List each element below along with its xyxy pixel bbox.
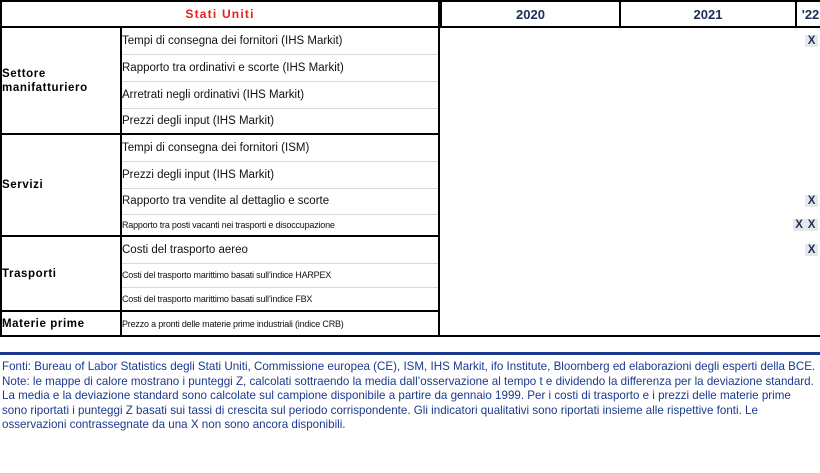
group-label-4: Materie prime xyxy=(1,311,121,336)
table-header-row: Stati Uniti 20202021'22 xyxy=(1,1,820,27)
table-body: Settore manifatturieroTempi di consegna … xyxy=(1,27,820,336)
table-row: ServiziTempi di consegna dei fornitori (… xyxy=(1,134,820,161)
missing-data-x-marker: X xyxy=(793,219,806,231)
row-label: Rapporto tra posti vacanti nei trasporti… xyxy=(121,214,439,236)
table-row: Arretrati negli ordinativi (IHS Markit) xyxy=(1,81,820,108)
table-row: Rapporto tra ordinativi e scorte (IHS Ma… xyxy=(1,54,820,81)
heatmap-row-cells: X xyxy=(439,27,820,54)
table-row: Materie primePrezzo a pronti delle mater… xyxy=(1,311,820,336)
row-label: Costi del trasporto aereo xyxy=(121,236,439,263)
heatmap-row-cells xyxy=(439,81,820,108)
heatmap-row-cells: X xyxy=(439,236,820,263)
year-header-cell: 20202021'22 xyxy=(439,1,820,27)
sources-text: Fonti: Bureau of Labor Statistics degli … xyxy=(2,360,818,375)
table-row: Costi del trasporto marittimo basati sul… xyxy=(1,263,820,287)
heatmap-row-cells: X xyxy=(439,188,820,214)
group-label-1: Settore manifatturiero xyxy=(1,27,121,134)
missing-data-x-marker: X xyxy=(805,195,818,207)
table-row: Prezzi degli input (IHS Markit) xyxy=(1,108,820,134)
indicators-heatmap-table: Stati Uniti 20202021'22 Settore manifatt… xyxy=(0,0,820,337)
row-label: Prezzi degli input (IHS Markit) xyxy=(121,108,439,134)
row-label: Costi del trasporto marittimo basati sul… xyxy=(121,263,439,287)
heatmap-row-cells xyxy=(439,311,820,336)
row-label: Rapporto tra ordinativi e scorte (IHS Ma… xyxy=(121,54,439,81)
heatmap-row-cells xyxy=(439,263,820,287)
row-label: Tempi di consegna dei fornitori (ISM) xyxy=(121,134,439,161)
row-label: Arretrati negli ordinativi (IHS Markit) xyxy=(121,81,439,108)
missing-data-x-marker: X xyxy=(805,219,818,231)
footer-divider xyxy=(0,352,820,355)
page-title: Stati Uniti xyxy=(1,1,439,27)
heatmap-row-cells xyxy=(439,161,820,188)
table-row: Rapporto tra posti vacanti nei trasporti… xyxy=(1,214,820,236)
table-row: Prezzi degli input (IHS Markit) xyxy=(1,161,820,188)
note-text: Note: le mappe di calore mostrano i punt… xyxy=(2,375,818,433)
group-label-2: Servizi xyxy=(1,134,121,236)
heatmap-row-cells xyxy=(439,108,820,134)
heatmap-row-cells xyxy=(439,287,820,311)
year-label-2021: 2021 xyxy=(619,2,795,26)
row-label: Prezzo a pronti delle materie prime indu… xyxy=(121,311,439,336)
heatmap-figure: Stati Uniti 20202021'22 Settore manifatt… xyxy=(0,0,820,473)
heatmap-row-cells: XX xyxy=(439,214,820,236)
table-row: Costi del trasporto marittimo basati sul… xyxy=(1,287,820,311)
row-label: Tempi di consegna dei fornitori (IHS Mar… xyxy=(121,27,439,54)
row-label: Rapporto tra vendite al dettaglio e scor… xyxy=(121,188,439,214)
table-row: Settore manifatturieroTempi di consegna … xyxy=(1,27,820,54)
row-label: Prezzi degli input (IHS Markit) xyxy=(121,161,439,188)
footnotes: Fonti: Bureau of Labor Statistics degli … xyxy=(2,360,818,433)
table-row: TrasportiCosti del trasporto aereoX xyxy=(1,236,820,263)
heatmap-row-cells xyxy=(439,134,820,161)
year-label-2020: 2020 xyxy=(440,2,619,26)
heatmap-row-cells xyxy=(439,54,820,81)
year-label-22: '22 xyxy=(795,2,820,26)
group-label-3: Trasporti xyxy=(1,236,121,311)
missing-data-x-marker: X xyxy=(805,244,818,256)
row-label: Costi del trasporto marittimo basati sul… xyxy=(121,287,439,311)
missing-data-x-marker: X xyxy=(805,35,818,47)
table-row: Rapporto tra vendite al dettaglio e scor… xyxy=(1,188,820,214)
